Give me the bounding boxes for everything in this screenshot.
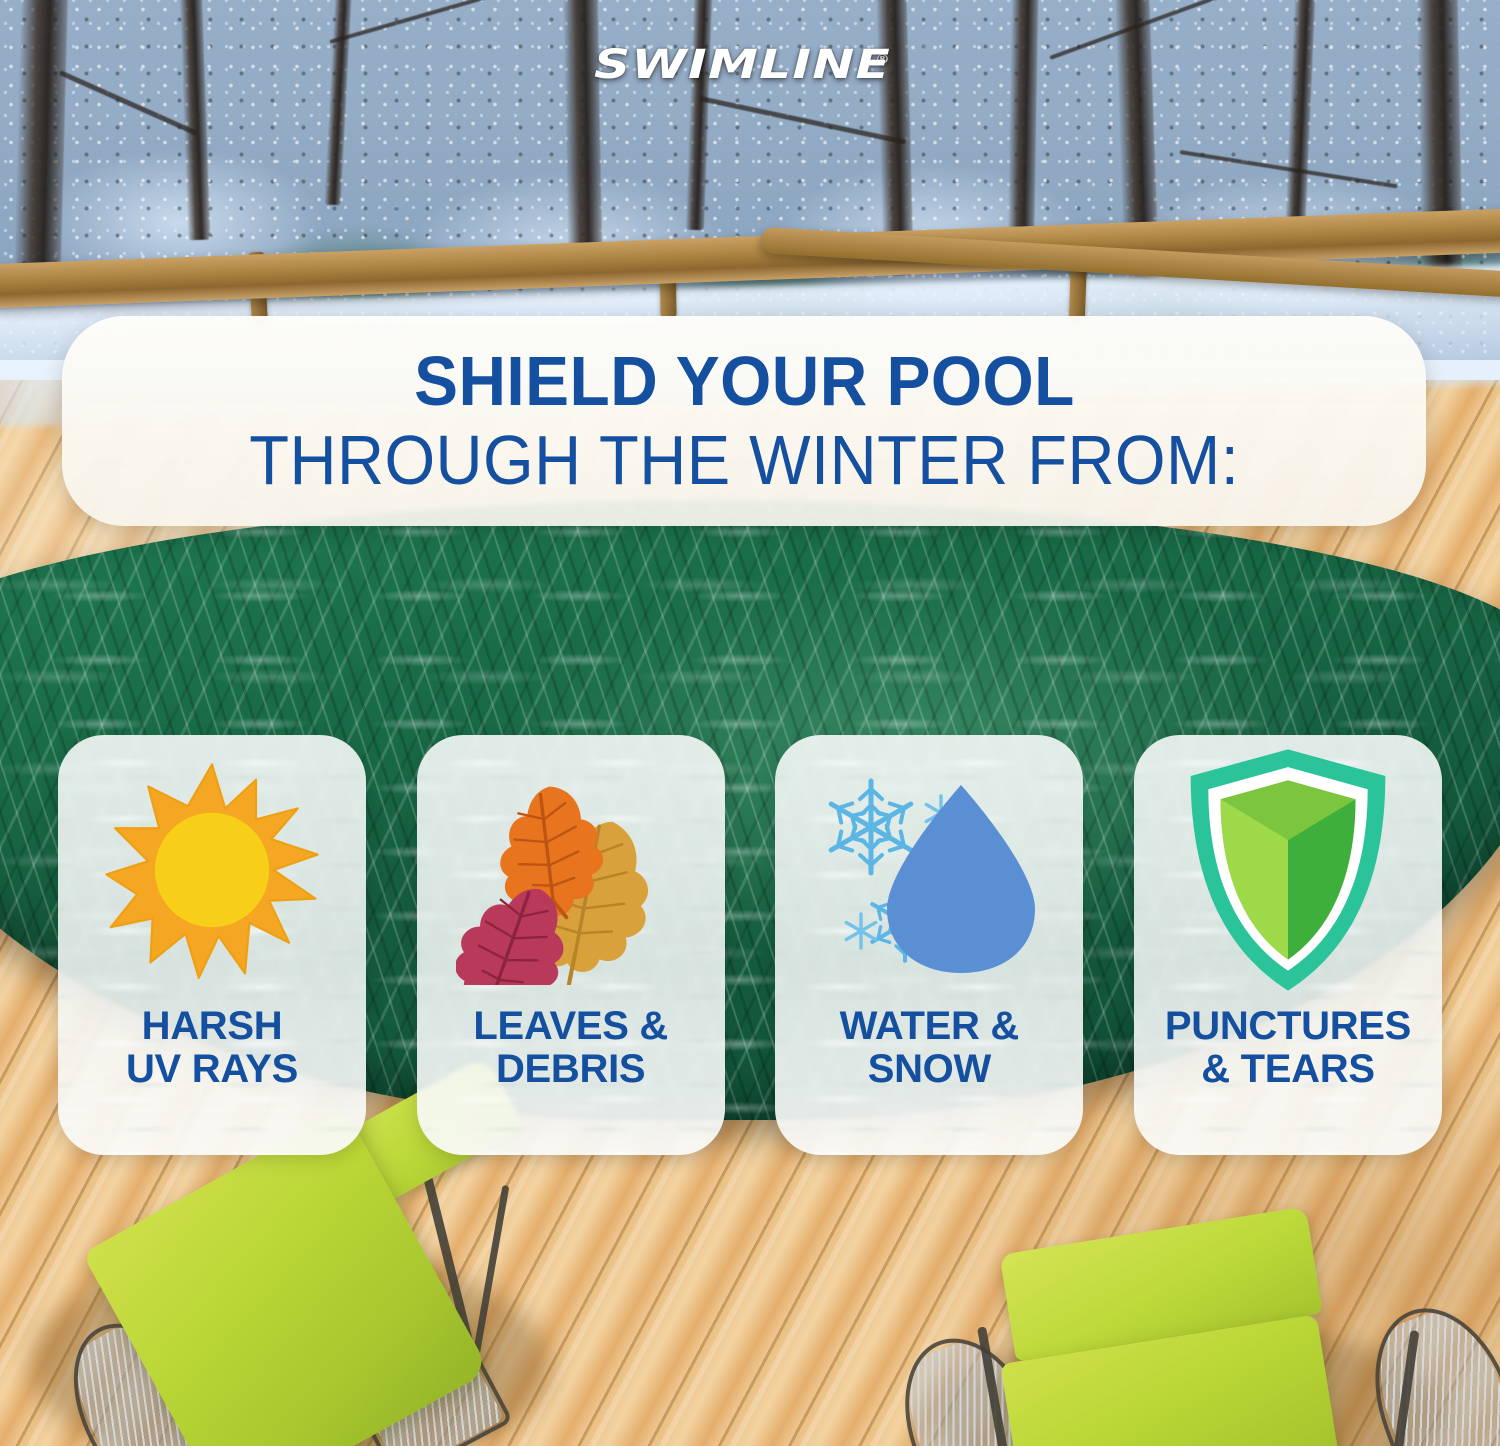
tree-trunk: [1008, 0, 1039, 255]
background-photo: [0, 0, 1500, 1446]
feature-label: HARSH UV RAYS: [126, 1005, 298, 1091]
product-marketing-image: SWIMLINE® SHIELD YOUR POOL THROUGH THE W…: [0, 0, 1500, 1446]
leaves-icon: [417, 735, 725, 1005]
feature-card-punctures-tears[interactable]: PUNCTURES & TEARS: [1134, 735, 1442, 1155]
feature-card-harsh-uv-rays[interactable]: HARSH UV RAYS: [58, 735, 366, 1155]
sun-icon: [58, 735, 366, 1005]
feature-card-water-snow[interactable]: WATER & SNOW: [775, 735, 1083, 1155]
feature-label: WATER & SNOW: [840, 1005, 1019, 1091]
headline-line-1: SHIELD YOUR POOL: [414, 342, 1075, 420]
feature-card-list: HARSH UV RAYS: [58, 735, 1442, 1155]
tree-trunk: [14, 0, 68, 291]
water-snow-icon: [775, 735, 1083, 1005]
headline-line-2: THROUGH THE WINTER FROM:: [249, 420, 1239, 500]
headline-banner: SHIELD YOUR POOL THROUGH THE WINTER FROM…: [62, 316, 1426, 526]
feature-card-leaves-debris[interactable]: LEAVES & DEBRIS: [417, 735, 725, 1155]
feature-label: LEAVES & DEBRIS: [473, 1005, 668, 1091]
feature-label: PUNCTURES & TEARS: [1165, 1005, 1411, 1091]
tree-trunk: [563, 0, 602, 280]
shield-icon: [1134, 735, 1442, 1005]
